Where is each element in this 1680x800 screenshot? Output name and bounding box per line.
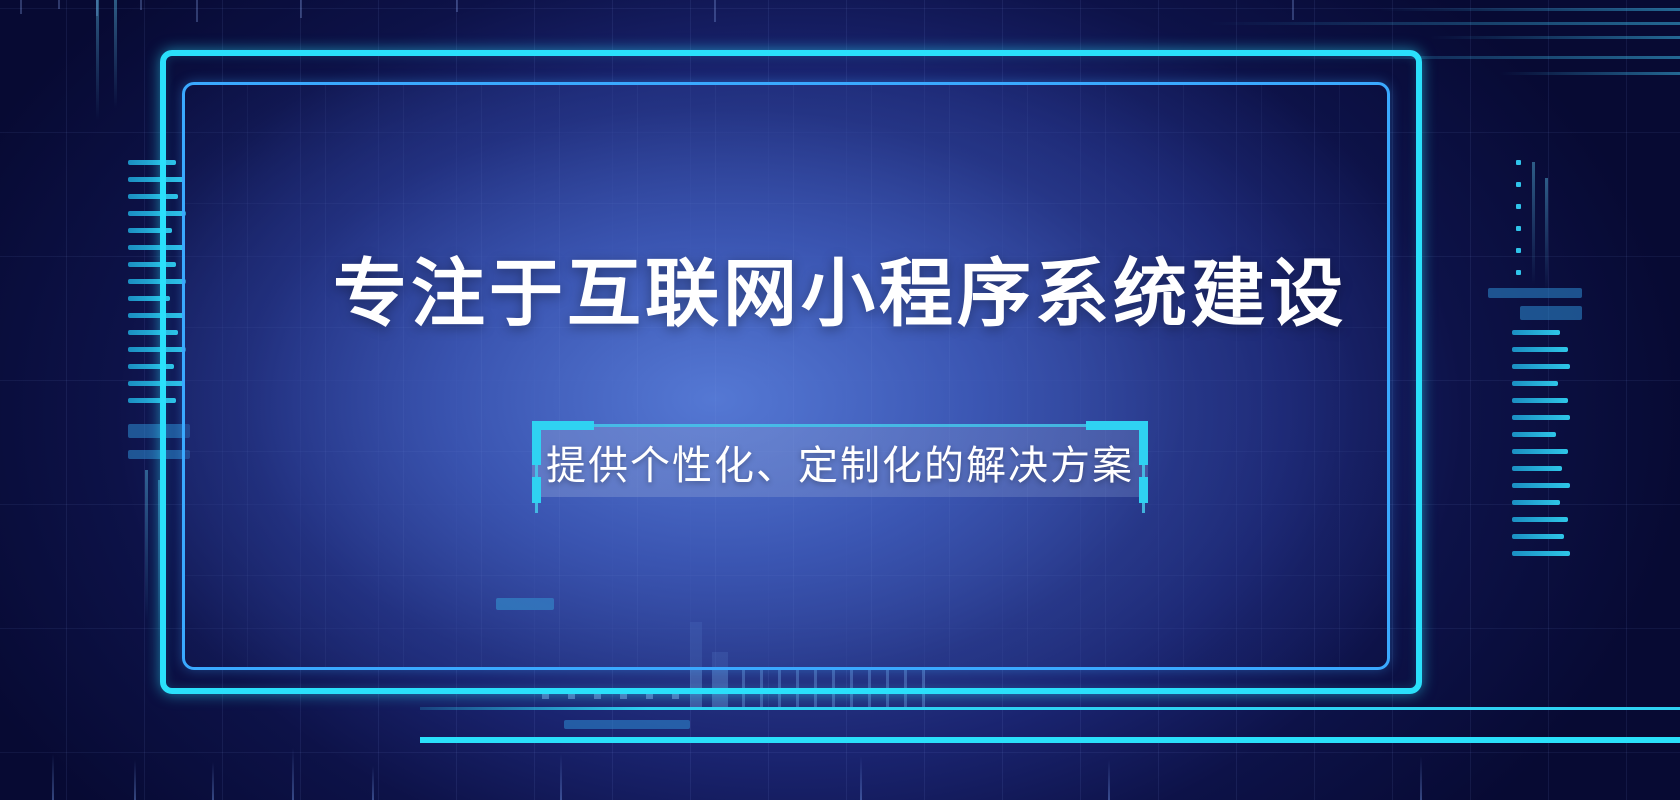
banner-stage: 专注于互联网小程序系统建设 提供个性化、定制化的解决方案: [0, 0, 1680, 800]
page-title: 专注于互联网小程序系统建设: [333, 257, 1347, 331]
subtitle-box: 提供个性化、定制化的解决方案: [517, 413, 1163, 511]
banner-content: 专注于互联网小程序系统建设 提供个性化、定制化的解决方案: [0, 0, 1680, 800]
subtitle-text: 提供个性化、定制化的解决方案: [517, 413, 1163, 511]
